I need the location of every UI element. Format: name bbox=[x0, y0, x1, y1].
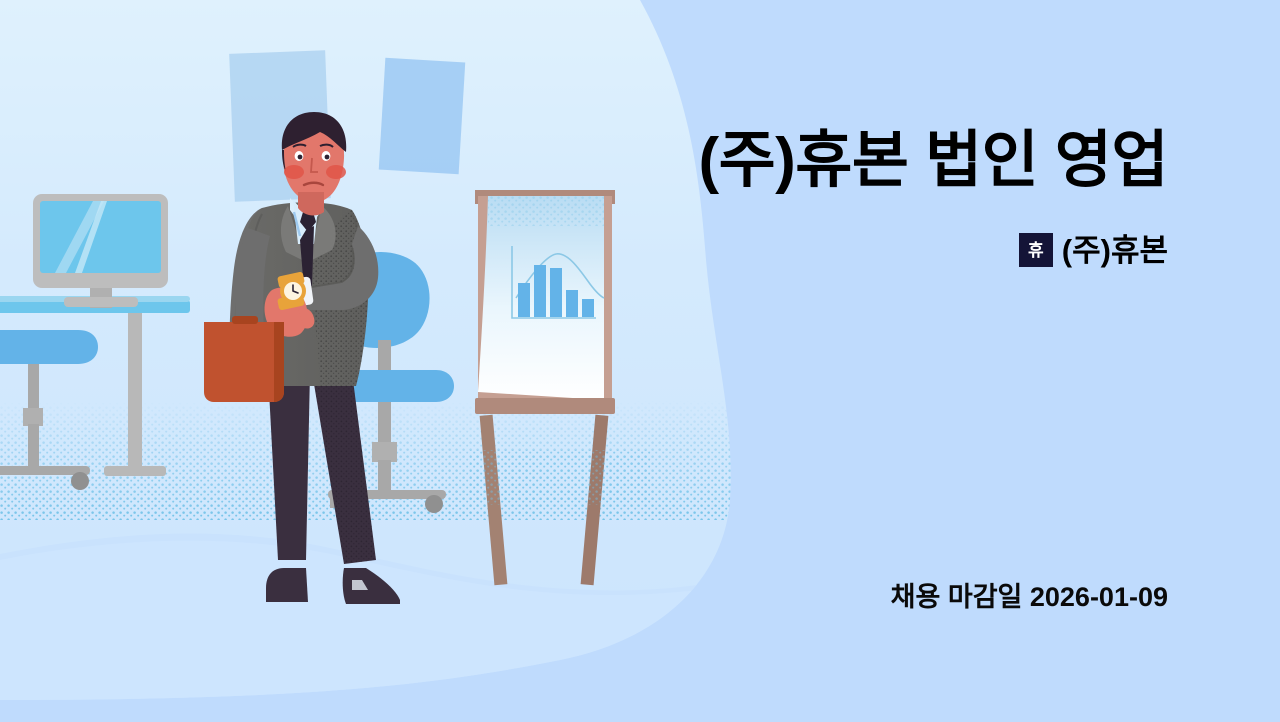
company-logo-icon: 휴 bbox=[1019, 233, 1053, 267]
company-name: (주)휴본 bbox=[1062, 235, 1168, 266]
wristwatch-icon bbox=[277, 271, 306, 310]
application-deadline: 채용 마감일 2026-01-09 bbox=[560, 575, 1168, 614]
company-row: 휴 (주)휴본 bbox=[560, 233, 1168, 267]
briefcase bbox=[204, 316, 284, 402]
easel-floor-dots bbox=[470, 450, 650, 505]
page-title: (주)휴본 법인 영업 bbox=[560, 126, 1168, 195]
poster-canvas: (주)휴본 법인 영업 휴 (주)휴본 채용 마감일 2026-01-09 bbox=[0, 0, 1280, 722]
wall-poster-right bbox=[379, 58, 466, 175]
